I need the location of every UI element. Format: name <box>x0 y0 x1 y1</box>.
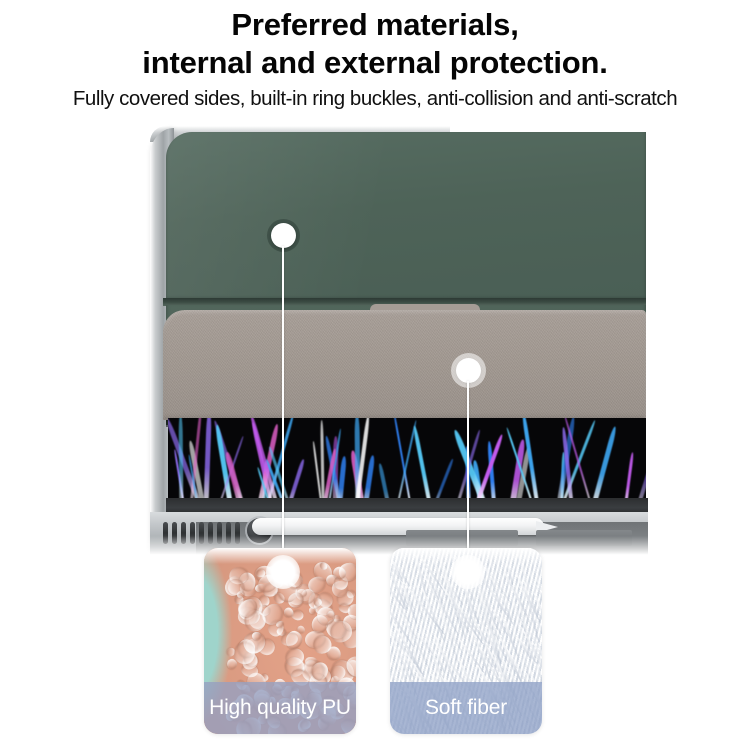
callout-endpoint-pu <box>266 555 300 589</box>
wallpaper-ribbon <box>393 418 413 500</box>
callout-marker-inner-lining[interactable] <box>456 358 481 383</box>
photo-bottom-fade <box>0 536 750 558</box>
callout-endpoint-fiber <box>451 555 485 589</box>
wallpaper-ribbon <box>179 418 184 500</box>
tablet-screen <box>168 418 646 500</box>
photo-right-crop <box>648 118 750 558</box>
product-feature-page: Preferred materials, internal and extern… <box>0 0 750 750</box>
headline-line-1: Preferred materials, <box>0 6 750 44</box>
case-inner-lining <box>163 310 646 420</box>
callout-marker-outer-shell[interactable] <box>271 223 296 248</box>
headline-line-2: internal and external protection. <box>0 44 750 82</box>
wallpaper-ribbon <box>320 420 324 500</box>
wallpaper-ribbon <box>590 426 618 500</box>
pu-pellet <box>228 579 244 595</box>
callout-leader-line-outer-shell <box>282 246 284 572</box>
wallpaper-ribbon <box>412 425 433 500</box>
wallpaper-ribbon <box>635 442 646 500</box>
pu-pellet <box>346 588 356 599</box>
product-photo <box>0 118 750 558</box>
wallpaper-ribbon <box>203 418 211 500</box>
wallpaper-ribbon <box>431 459 454 500</box>
wallpaper-ribbon <box>378 463 392 500</box>
page-subtitle: Fully covered sides, built-in ring buckl… <box>0 86 750 112</box>
wallpaper-ribbon <box>284 458 304 500</box>
fiber-strand <box>506 649 521 682</box>
page-title: Preferred materials, internal and extern… <box>0 6 750 82</box>
wallpaper-ribbon <box>623 452 634 500</box>
material-label-fiber: Soft fiber <box>390 682 542 734</box>
case-outer-cover-upper-panel <box>166 132 646 300</box>
material-label-pu: High quality PU <box>204 682 356 734</box>
callout-leader-line-inner-lining <box>467 381 469 572</box>
